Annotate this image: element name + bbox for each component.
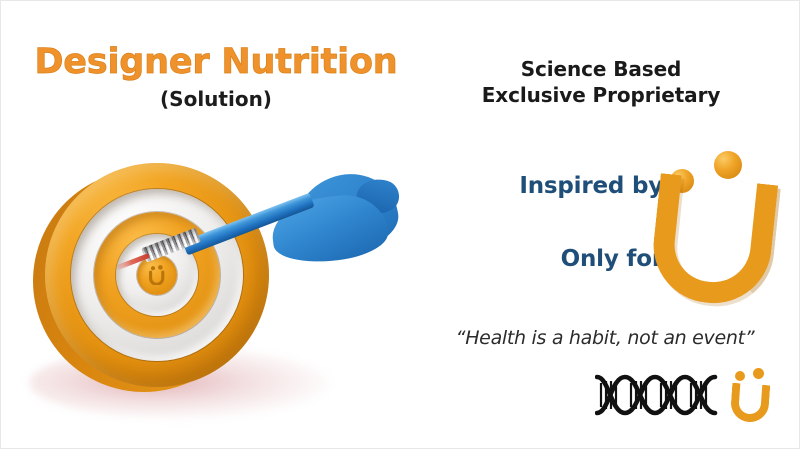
page-title: Designer Nutrition — [1, 45, 431, 80]
dartboard-figure — [23, 151, 413, 431]
claim-inspired-by: Inspired by — [443, 173, 663, 199]
u-umlaut-dot-right — [714, 151, 742, 179]
u-umlaut-logo — [646, 143, 796, 311]
headline-line-2: Exclusive Proprietary — [431, 83, 771, 109]
claim-only-for: Only for — [443, 246, 663, 272]
brand-u-dot-right — [753, 368, 764, 379]
claim-block: Inspired by Only for — [443, 173, 663, 272]
brand-strip — [595, 365, 791, 427]
brand-u-umlaut-mark — [725, 365, 777, 423]
u-umlaut-body — [648, 173, 778, 309]
brand-u-body — [730, 383, 771, 424]
brand-u-dot-left — [735, 371, 745, 381]
page-subtitle: (Solution) — [1, 89, 431, 109]
dna-double-helix-icon — [595, 371, 721, 419]
headline-line-1: Science Based — [431, 57, 771, 83]
title-block: Designer Nutrition (Solution) — [1, 45, 431, 109]
dart — [141, 161, 421, 291]
left-panel: Designer Nutrition (Solution) — [1, 1, 431, 449]
headline-block: Science Based Exclusive Proprietary — [431, 57, 771, 108]
slide-canvas: Designer Nutrition (Solution) — [0, 0, 800, 449]
dart-barrel-coil — [141, 228, 201, 263]
tagline-quote: “Health is a habit, not an event” — [431, 327, 779, 349]
right-panel: Science Based Exclusive Proprietary Insp… — [431, 1, 800, 449]
